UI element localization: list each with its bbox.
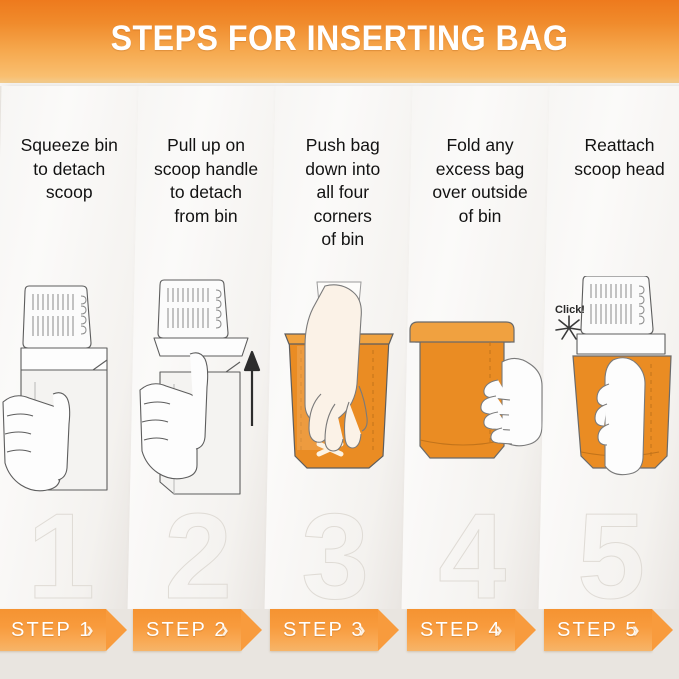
step-tab-label-3: STEP 3 <box>270 619 365 642</box>
chevron-right-icon-1: › <box>86 618 102 642</box>
header-banner: STEPS FOR INSERTING BAG <box>0 0 679 83</box>
step-tab-tip-3 <box>378 609 399 651</box>
step-tab-label-1: STEP 1 <box>0 619 93 642</box>
step-caption-1: Squeeze bin to detach scoop <box>0 134 139 205</box>
step-panel-2[interactable]: Pull up on scoop handle to detach from b… <box>128 86 278 611</box>
chevron-right-icon-2: › <box>221 618 237 642</box>
step-tab-tip-5 <box>652 609 673 651</box>
step-caption-5: Reattach scoop head <box>548 134 679 181</box>
click-callout-label: Click! <box>547 304 593 316</box>
step-panel-1[interactable]: Squeeze bin to detach scoop 1 <box>0 86 140 611</box>
step-tab-tip-2 <box>241 609 262 651</box>
chevron-right-icon-4: › <box>495 618 511 642</box>
step-tab-label-5: STEP 5 <box>544 619 639 642</box>
step-tab-label-2: STEP 2 <box>133 619 228 642</box>
step-panel-4[interactable]: Fold any excess bag over outside of bin … <box>402 86 552 611</box>
step-tab-tip-4 <box>515 609 536 651</box>
page-title: STEPS FOR INSERTING BAG <box>27 19 652 59</box>
step-illustration-2 <box>132 276 271 516</box>
chevron-right-icon-5: › <box>632 618 648 642</box>
chevron-right-icon-3: › <box>358 618 374 642</box>
step-tab-label-4: STEP 4 <box>407 619 502 642</box>
steps-panel-strip: Squeeze bin to detach scoop 1 <box>0 86 679 611</box>
step-illustration-1 <box>0 276 134 516</box>
step-illustration-3 <box>269 276 408 516</box>
step-tab-tip-1 <box>106 609 127 651</box>
step-illustration-4 <box>406 276 545 516</box>
step-panel-5[interactable]: Reattach scoop head 5 Click! <box>539 86 679 611</box>
step-caption-4: Fold any excess bag over outside of bin <box>411 134 550 228</box>
step-illustration-5: Click! <box>543 276 679 516</box>
step-caption-3: Push bag down into all four corners of b… <box>273 134 412 252</box>
step-progress-bar: STEP 1 › STEP 2 › STEP 3 › STEP 4 › STEP… <box>0 609 679 679</box>
instruction-poster: STEPS FOR INSERTING BAG Squeeze bin to d… <box>0 0 679 679</box>
step-panel-3[interactable]: Push bag down into all four corners of b… <box>265 86 415 611</box>
step-caption-2: Pull up on scoop handle to detach from b… <box>137 134 276 228</box>
